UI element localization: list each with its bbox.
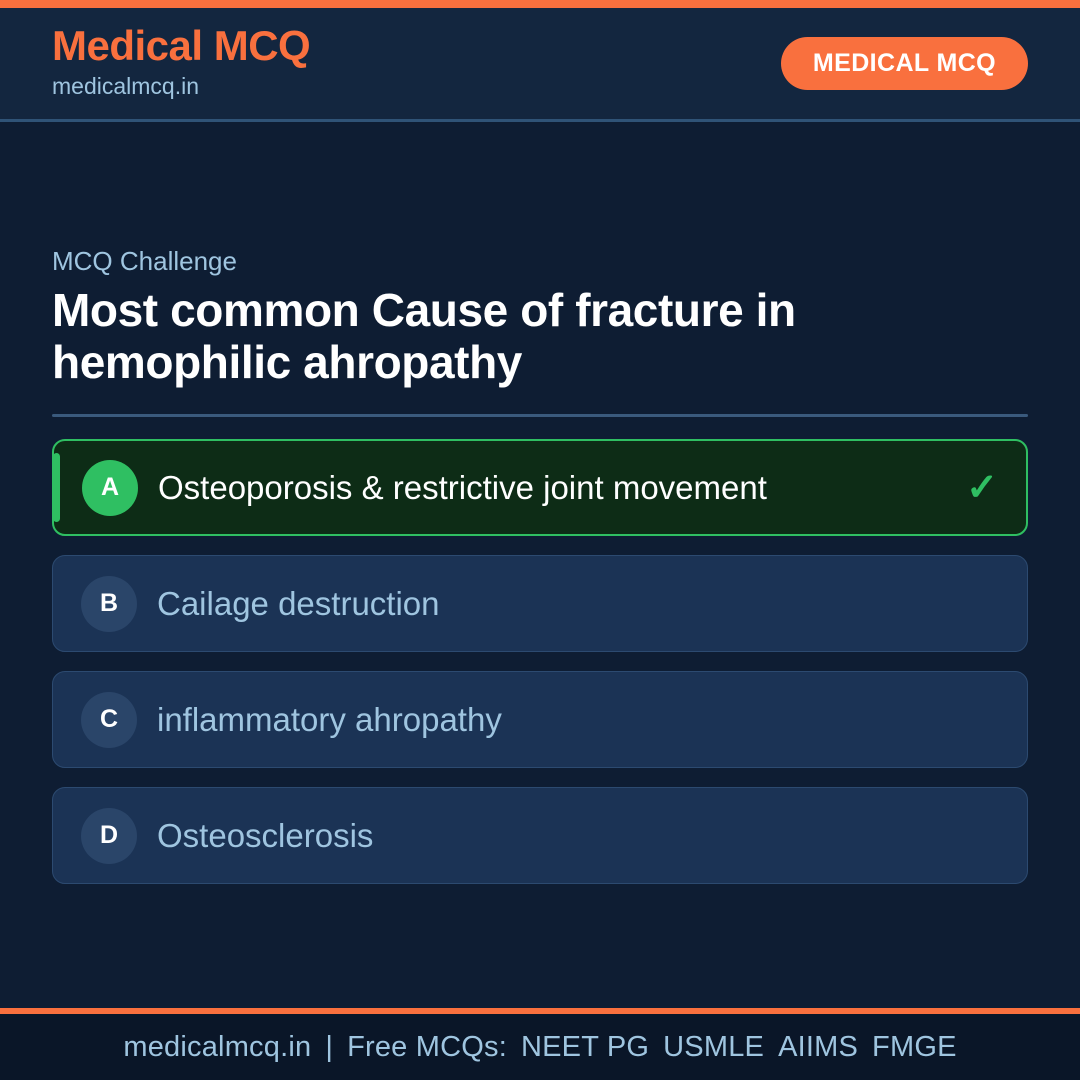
footer-exam-item: NEET PG <box>521 1031 649 1063</box>
footer-site: medicalmcq.in <box>123 1031 311 1063</box>
brand-website: medicalmcq.in <box>52 70 310 102</box>
page-footer: medicalmcq.in|Free MCQs:NEET PGUSMLEAIIM… <box>0 1008 1080 1080</box>
footer-text: medicalmcq.in|Free MCQs:NEET PGUSMLEAIIM… <box>123 1031 956 1064</box>
footer-label: Free MCQs: <box>347 1031 507 1063</box>
option-d[interactable]: D Osteosclerosis <box>52 787 1028 884</box>
footer-separator: | <box>311 1031 347 1063</box>
option-d-label: Osteosclerosis <box>157 817 983 855</box>
question-title: Most common Cause of fracture in hemophi… <box>52 285 1012 388</box>
footer-exam-item: FMGE <box>872 1031 957 1063</box>
option-d-letter: D <box>81 808 137 864</box>
section-divider <box>52 414 1028 417</box>
option-c-label: inflammatory ahropathy <box>157 701 983 739</box>
option-a-label: Osteoporosis & restrictive joint movemen… <box>158 469 950 507</box>
brand-title: Medical MCQ <box>52 24 310 68</box>
check-icon: ✓ <box>966 469 998 507</box>
footer-exam-item: AIIMS <box>778 1031 858 1063</box>
footer-exam-item: USMLE <box>663 1031 764 1063</box>
option-a-letter: A <box>82 460 138 516</box>
option-b-label: Cailage destruction <box>157 585 983 623</box>
brand-block: Medical MCQ medicalmcq.in <box>52 24 310 102</box>
top-accent-bar <box>0 0 1080 8</box>
option-a[interactable]: A Osteoporosis & restrictive joint movem… <box>52 439 1028 536</box>
options-list: A Osteoporosis & restrictive joint movem… <box>52 439 1028 884</box>
question-eyebrow: MCQ Challenge <box>52 246 1028 277</box>
option-b[interactable]: B Cailage destruction <box>52 555 1028 652</box>
option-b-letter: B <box>81 576 137 632</box>
option-c[interactable]: C inflammatory ahropathy <box>52 671 1028 768</box>
main-content: MCQ Challenge Most common Cause of fract… <box>0 122 1080 1008</box>
page-header: Medical MCQ medicalmcq.in MEDICAL MCQ <box>0 8 1080 122</box>
footer-exams: NEET PGUSMLEAIIMSFMGE <box>507 1031 957 1063</box>
header-badge: MEDICAL MCQ <box>781 37 1028 90</box>
option-c-letter: C <box>81 692 137 748</box>
